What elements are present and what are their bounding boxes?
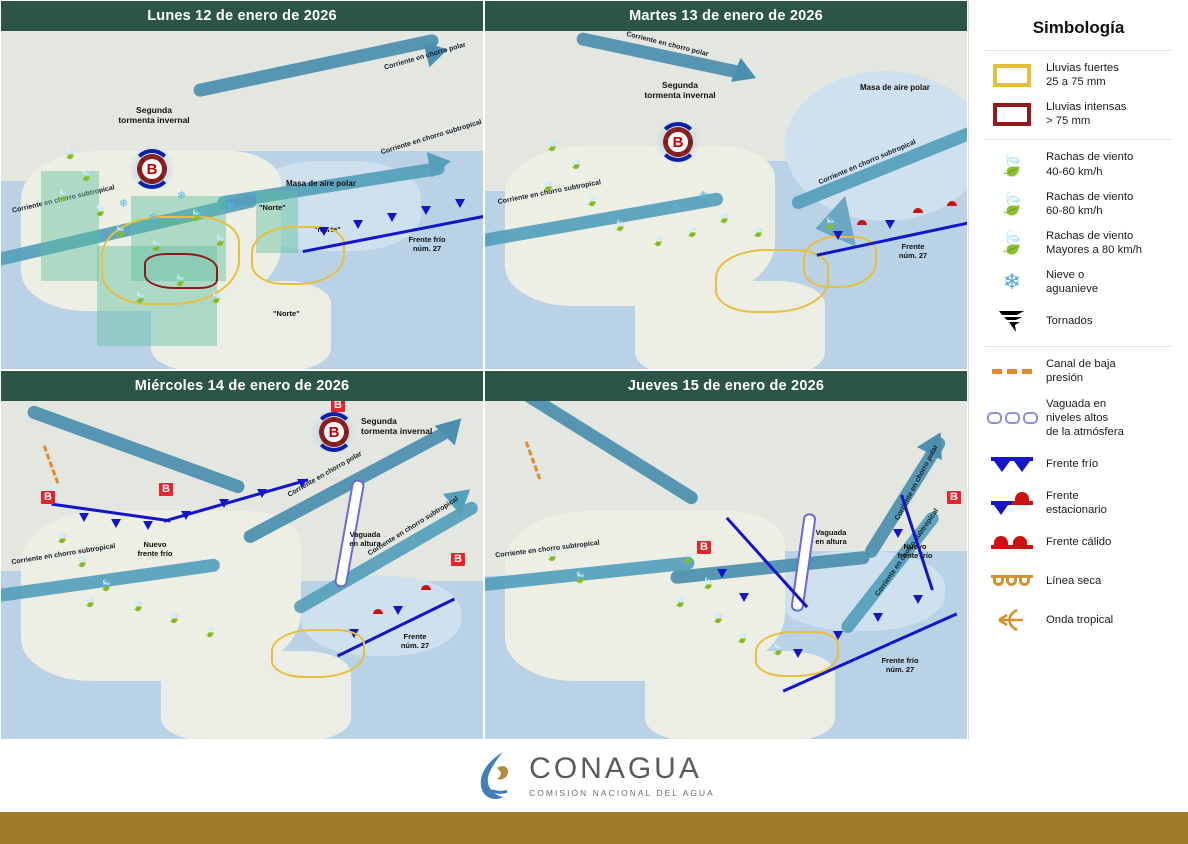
front-warm-pip [913,208,923,213]
upper-level-trough-icon [989,404,1035,432]
wind-gust-icon: 🍃 [133,293,147,304]
wind-gust-icon: 🍃 [75,557,89,568]
cold-front-pip [181,511,191,520]
tornado-glyph [997,308,1027,334]
low-pressure-flag-front: B [451,553,465,566]
polar-air-mass-label: Masa de aire polar [860,83,930,93]
cold-front-pip [913,595,923,604]
cold-front-pip [111,519,121,528]
norte-label-3: "Norte" [273,309,300,318]
legend-item-nieve[interactable]: ❄ Nieve o aguanieve [989,268,1174,296]
legend-item-tornados[interactable]: Tornados [989,307,1174,335]
legend-label: Rachas de viento 60-80 km/h [1046,190,1133,218]
brand-subtitle: COMISIÓN NACIONAL DEL AGUA [529,788,715,798]
cold-front-label: Frente frío núm. 27 [396,236,458,253]
legend-divider-2 [985,346,1172,347]
heavy-rain-contour-2 [251,226,345,285]
wind-gust-icon: 🍃 [585,196,599,207]
tropical-wave-glyph [991,609,1033,631]
polar-air-mass-text: Masa de aire polar [286,179,356,188]
cold-front-pip [79,513,89,522]
legend-item-rachas-60-80[interactable]: 🍃 Rachas de viento 60-80 km/h [989,190,1174,218]
front-warm-pip [421,585,431,590]
snow-icon: ❄ [671,203,680,214]
front-cold-pip [885,220,895,229]
subtropical-jet-arrowhead [427,148,453,177]
wind-gust-icon: 🍃 [751,227,765,238]
legend-item-frente-estacionario[interactable]: Frente estacionario [989,489,1174,517]
wind-gust-icon: 🍃 [823,219,837,230]
cold-front-pip [455,199,465,208]
forecast-maps-grid: Lunes 12 de enero de 2026 Corriente en c… [0,0,968,740]
heavy-rain-contour [271,629,365,678]
legend-label: Frente cálido [1046,535,1111,549]
cold-front-pip [739,593,749,602]
wind-gust-icon: 🍃 [545,141,559,152]
wind-gust-icon: 🍃 [173,276,187,287]
wind-gust-icon: 🍃 [701,579,715,590]
stationary-front-icon [989,489,1035,517]
wind-gust-icon: 🍃 [685,227,699,238]
panel-title-monday: Lunes 12 de enero de 2026 [1,1,483,31]
conagua-wordmark: CONAGUA COMISIÓN NACIONAL DEL AGUA [529,754,715,798]
legend-label: Vaguada en niveles altos de la atmósfera [1046,397,1124,439]
polar-air-mass-text: Masa de aire polar [860,83,930,92]
wind-gust-icon: 🍃 [113,227,127,238]
low-pressure-letter: B [324,422,344,442]
cold-front-pip [387,213,397,222]
snow-icon: ❄ [197,209,206,220]
weather-forecast-page: Lunes 12 de enero de 2026 Corriente en c… [0,0,1188,844]
legend-label: Nieve o aguanieve [1046,268,1098,296]
wind-gust-icon: 🍃 [99,581,113,592]
low-pressure-channel-icon [989,357,1035,385]
legend-item-frente-frio[interactable]: Frente frío [989,450,1174,478]
legend-label: Tornados [1046,314,1092,328]
panel-title-tuesday: Martes 13 de enero de 2026 [485,1,967,31]
wind-gust-icon: 🍃 [93,206,107,217]
panel-title-thursday: Jueves 15 de enero de 2026 [485,371,967,401]
low-pressure-letter: B [142,159,162,179]
front-warm-pip [373,609,383,614]
legend-label: Lluvias fuertes 25 a 75 mm [1046,61,1119,89]
snow-icon: ❄ [225,201,234,212]
wind-gust-icon: 🍃 [149,241,163,252]
legend-title: Simbología [983,18,1174,38]
rain-intense-box-icon [989,100,1035,128]
low-pressure-letter: B [668,132,688,152]
wind-gust-icon: 🍃 [673,597,687,608]
snow-icon: ❄ [989,268,1035,296]
winter-storm-label: Segunda tormenta invernal [635,81,725,101]
rain-strong-box-icon [989,61,1035,89]
map-canvas-wednesday[interactable]: Corriente en chorro polar Corriente en c… [1,401,483,739]
winter-storm-label: Segunda tormenta invernal [361,417,441,437]
legend-item-rachas-mayores-80[interactable]: 🍃 Rachas de viento Mayores a 80 km/h [989,229,1174,257]
new-cold-front-label: Nuevo frente frío [127,541,183,558]
legend-divider-top [985,50,1172,51]
wind-gust-icon: 🍃 [79,171,93,182]
new-cold-front-label: Nuevo frente frío [889,543,941,560]
wind-swirl-red-icon: 🍃 [989,229,1035,257]
wind-gust-icon: 🍃 [711,613,725,624]
wind-gust-icon: 🍃 [213,236,227,247]
legend-item-lluvias-intensas[interactable]: Lluvias intensas > 75 mm [989,100,1174,128]
wind-gust-icon: 🍃 [651,236,665,247]
wind-swirl-green-icon: 🍃 [989,151,1035,179]
snow-icon: ❄ [177,191,186,202]
trough-label: Vaguada en altura [803,529,859,546]
map-canvas-thursday[interactable]: Corriente en chorro polar Corriente en c… [485,401,967,739]
low-pressure-flag-left: B [697,541,711,554]
legend-item-rachas-40-60[interactable]: 🍃 Rachas de viento 40-60 km/h [989,150,1174,178]
cold-front-pip [873,613,883,622]
map-canvas-monday[interactable]: Corriente en chorro polar Corriente en c… [1,31,483,369]
tornado-icon [989,307,1035,335]
wind-gust-icon: 🍃 [573,573,587,584]
warm-front-icon [989,528,1035,556]
cold-front-pip [143,521,153,530]
wind-gust-icon-orange: 🍃 [83,597,97,608]
norte-zone-1 [41,171,99,281]
front-label: Frente núm. 27 [885,243,941,260]
wind-gust-icon: 🍃 [569,159,583,170]
wind-gust-icon: 🍃 [167,613,181,624]
polar-air-mass-label: Masa de aire polar [286,179,356,189]
winter-storm-low-marker[interactable]: B [129,146,175,192]
snow-icon: ❄ [699,191,708,202]
wind-swirl-orange-icon: 🍃 [989,190,1035,218]
footer-brand: CONAGUA COMISIÓN NACIONAL DEL AGUA [0,740,1188,812]
legend-label: Canal de baja presión [1046,357,1116,385]
legend-label: Frente estacionario [1046,489,1107,517]
cold-front-pip [421,206,431,215]
cold-front-pip [297,479,307,488]
legend-item-frente-calido[interactable]: Frente cálido [989,528,1174,556]
winter-storm-label: Segunda tormenta invernal [109,106,199,126]
forecast-panel-thursday[interactable]: Jueves 15 de enero de 2026 Corriente en … [484,370,968,740]
legend-label: Línea seca [1046,574,1101,588]
heavy-rain-contour [755,631,839,677]
low-pressure-flag-left: B [41,491,55,504]
wind-gust-icon: 🍃 [541,181,555,192]
legend-label: Frente frío [1046,457,1098,471]
low-pressure-flag-top: B [331,401,345,412]
legend-label: Lluvias intensas > 75 mm [1046,100,1126,128]
forecast-panel-monday[interactable]: Lunes 12 de enero de 2026 Corriente en c… [0,0,484,370]
cold-front-pip [219,499,229,508]
low-pressure-flag-right: B [159,483,173,496]
legend-item-lluvias-fuertes[interactable]: Lluvias fuertes 25 a 75 mm [989,61,1174,89]
winter-storm-low-marker[interactable]: B [311,409,357,455]
wind-gust-icon: 🍃 [203,627,217,638]
wind-gust-icon: 🍃 [63,149,77,160]
cold-front-pip [257,489,267,498]
footer-gold-bar [0,812,1188,844]
legend-divider-1 [985,139,1172,140]
snow-icon: ❄ [149,213,158,224]
legend-item-vaguada[interactable]: Vaguada en niveles altos de la atmósfera [989,397,1174,439]
cold-front-pip [893,529,903,538]
cold-front-pip [717,569,727,578]
front-label: Frente núm. 27 [387,633,443,650]
wind-gust-icon: 🍃 [681,553,695,564]
norte-label-1: "Norte" [259,203,286,212]
legend-label: Rachas de viento 40-60 km/h [1046,150,1133,178]
wind-gust-icon: 🍃 [545,551,559,562]
wind-gust-icon: 🍃 [771,645,785,656]
cold-front-pip [319,227,329,236]
legend-label: Onda tropical [1046,613,1113,627]
low-pressure-flag-right: B [947,491,961,504]
wind-gust-icon: 🍃 [55,533,69,544]
map-canvas-tuesday[interactable]: Corriente en chorro polar Corriente en c… [485,31,967,369]
cold-front-icon [989,450,1035,478]
legend-item-linea-seca[interactable]: Línea seca [989,567,1174,595]
conagua-logo-icon [473,748,517,804]
snow-icon: ❄ [119,199,128,210]
wind-gust-icon: 🍃 [613,221,627,232]
forecast-panel-tuesday[interactable]: Martes 13 de enero de 2026 Corriente en … [484,0,968,370]
panel-title-wednesday: Miércoles 14 de enero de 2026 [1,371,483,401]
legend-item-canal-baja-presion[interactable]: Canal de baja presión [989,357,1174,385]
wind-gust-icon: 🍃 [735,633,749,644]
forecast-panel-wednesday[interactable]: Miércoles 14 de enero de 2026 Corriente … [0,370,484,740]
wind-gust-icon: 🍃 [717,213,731,224]
cold-front-pip [353,220,363,229]
legend-item-onda-tropical[interactable]: Onda tropical [989,606,1174,634]
legend-panel: Simbología Lluvias fuertes 25 a 75 mm Ll… [968,0,1188,740]
front-cold-pip [393,606,403,615]
dry-line-icon [989,567,1035,595]
wind-gust-icon: 🍃 [209,293,223,304]
tropical-wave-icon [989,606,1035,634]
brand-name: CONAGUA [529,754,715,784]
wind-gust-icon: 🍃 [56,191,70,202]
front-warm-pip [857,220,867,225]
trough-label: Vaguada en altura [337,531,393,548]
winter-storm-low-marker[interactable]: B [655,119,701,165]
cold-front-label-27: Frente frío núm. 27 [869,657,931,674]
wind-gust-icon: 🍃 [131,601,145,612]
legend-label: Rachas de viento Mayores a 80 km/h [1046,229,1142,257]
front-warm-pip [947,201,957,206]
front-cold-pip [833,231,843,240]
